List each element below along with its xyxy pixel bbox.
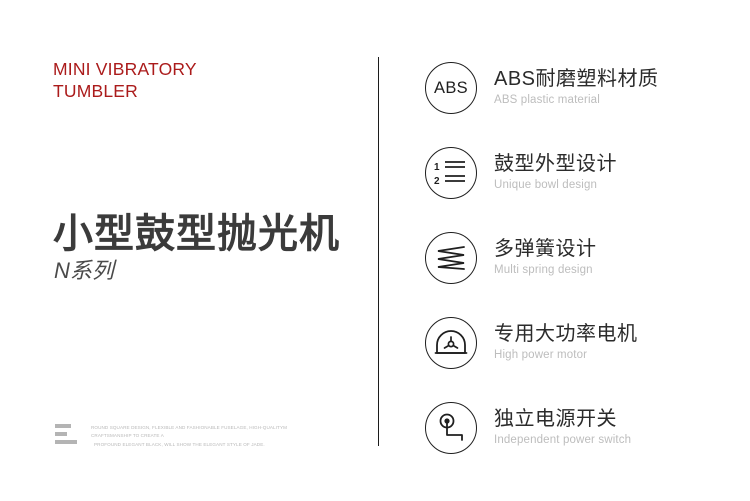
feature-title-en: High power motor <box>494 348 638 364</box>
abs-material-icon: ABS <box>425 62 477 114</box>
feature-title-en: ABS plastic material <box>494 93 659 109</box>
feature-text: 专用大功率电机 High power motor <box>494 322 638 364</box>
feature-item-multi-spring: 多弹簧设计 Multi spring design <box>425 227 750 289</box>
left-panel: MINI VIBRATORY TUMBLER 小型鼓型抛光机 N系列 ROUND… <box>0 0 378 501</box>
description-line-1: ROUND SQUARE DESIGN, FLEXIBLE AND FASHIO… <box>91 424 331 432</box>
feature-item-bowl-design: 1 2 鼓型外型设计 Unique bowl design <box>425 142 750 204</box>
feature-text: 鼓型外型设计 Unique bowl design <box>494 152 617 194</box>
feature-item-power-switch: 独立电源开关 Independent power switch <box>425 397 750 459</box>
feature-title-cn: ABS耐磨塑料材质 <box>494 67 659 91</box>
abs-material-icon-label: ABS <box>434 79 468 98</box>
description-paragraph: ROUND SQUARE DESIGN, FLEXIBLE AND FASHIO… <box>91 424 331 449</box>
feature-text: 多弹簧设计 Multi spring design <box>494 237 597 279</box>
spring-zigzag-icon <box>425 232 477 284</box>
svg-text:1: 1 <box>434 162 440 173</box>
product-feature-page: MINI VIBRATORY TUMBLER 小型鼓型抛光机 N系列 ROUND… <box>0 0 750 501</box>
feature-title-cn: 多弹簧设计 <box>494 237 597 261</box>
numbered-list-icon: 1 2 <box>425 147 477 199</box>
feature-list: ABS ABS耐磨塑料材质 ABS plastic material 1 2 <box>425 0 750 501</box>
motor-icon <box>425 317 477 369</box>
bar-segment-2 <box>55 432 67 436</box>
bars-icon <box>55 424 81 446</box>
feature-text: 独立电源开关 Independent power switch <box>494 407 631 449</box>
bar-segment-1 <box>55 424 71 428</box>
bar-segment-3 <box>55 440 77 444</box>
description-line-3: PROFOUND ELEGANT BLACK, WILL SHOW THE EL… <box>91 441 331 449</box>
feature-item-abs-material: ABS ABS耐磨塑料材质 ABS plastic material <box>425 57 750 119</box>
feature-title-en: Multi spring design <box>494 263 597 279</box>
feature-title-cn: 独立电源开关 <box>494 407 631 431</box>
power-switch-touch-icon <box>425 402 477 454</box>
feature-title-cn: 鼓型外型设计 <box>494 152 617 176</box>
feature-title-cn: 专用大功率电机 <box>494 322 638 346</box>
page-title: 小型鼓型抛光机 <box>53 212 340 256</box>
page-subtitle: N系列 <box>54 258 114 284</box>
feature-title-en: Independent power switch <box>494 433 631 449</box>
vertical-divider <box>378 57 379 446</box>
feature-title-en: Unique bowl design <box>494 178 617 194</box>
feature-item-high-power-motor: 专用大功率电机 High power motor <box>425 312 750 374</box>
svg-text:2: 2 <box>434 176 440 187</box>
feature-text: ABS耐磨塑料材质 ABS plastic material <box>494 67 659 109</box>
description-line-2: CRAFTSMANSHIP TO CREATE A <box>91 432 331 440</box>
page-eyebrow-title: MINI VIBRATORY TUMBLER <box>53 59 283 103</box>
